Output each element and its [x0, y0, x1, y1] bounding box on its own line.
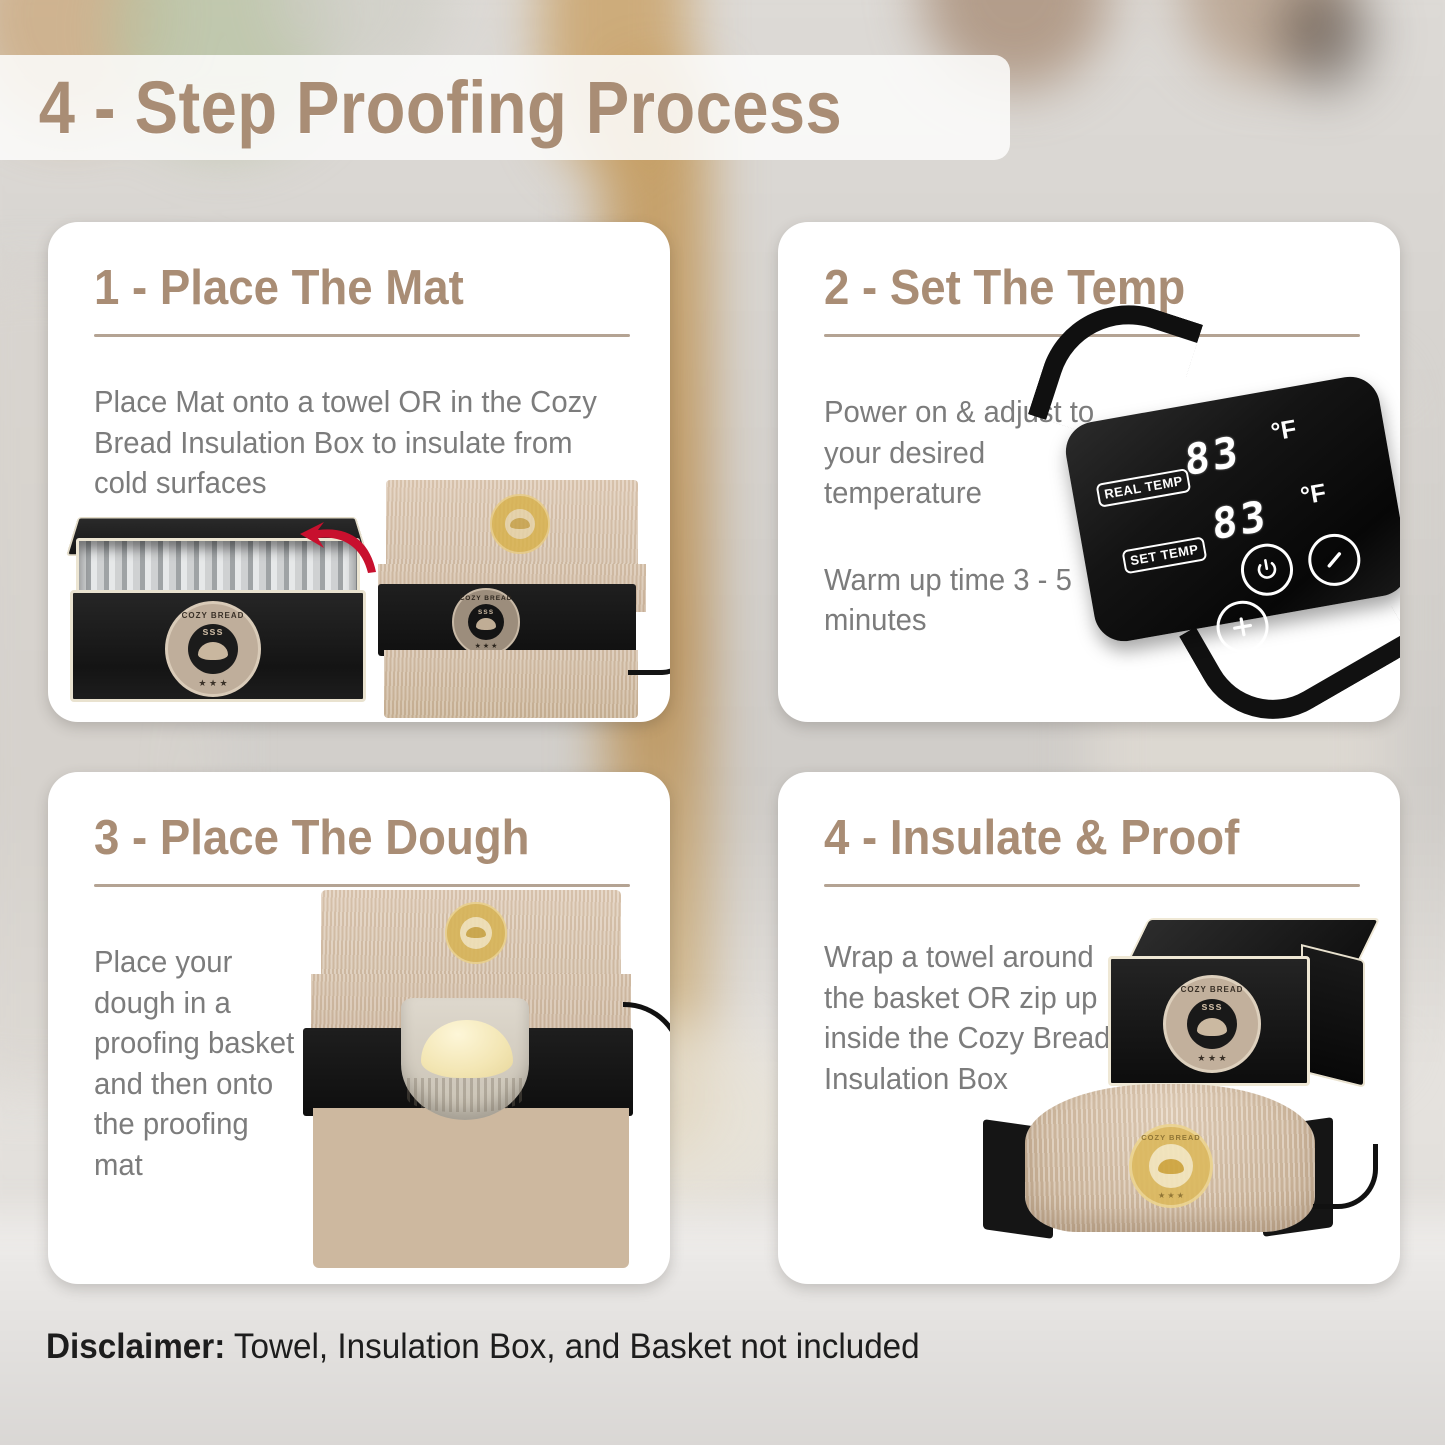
cozy-bread-badge: COZY BREAD sss ★ ★ ★ — [1163, 975, 1261, 1073]
minus-button[interactable] — [1304, 530, 1364, 590]
disclaimer-text: Towel, Insulation Box, and Basket not in… — [225, 1327, 919, 1366]
wrapping-towel: COZY BREAD ★ ★ ★ — [1025, 1084, 1315, 1232]
step-3-heading: 3 - Place The Dough — [94, 810, 630, 866]
real-temp-unit: °F — [1269, 415, 1299, 448]
minus-icon — [1319, 545, 1349, 575]
towel-wrapped-mat: COZY BREAD ★ ★ ★ — [983, 1084, 1343, 1244]
step-1-illustration: COZY BREAD sss ★ ★ ★ — [48, 472, 670, 722]
step-card-2: 2 - Set The Temp Power on & adjust to yo… — [778, 222, 1400, 722]
disclaimer: Disclaimer: Towel, Insulation Box, and B… — [46, 1327, 920, 1367]
page-title: 4 - Step Proofing Process — [0, 65, 842, 150]
step-1-divider — [94, 334, 630, 337]
set-temp-unit: °F — [1298, 479, 1328, 512]
step-card-4: 4 - Insulate & Proof Wrap a towel around… — [778, 772, 1400, 1284]
towel-bottom — [313, 1108, 629, 1268]
set-temp-label: SET TEMP — [1121, 536, 1207, 574]
mat-power-cord — [628, 600, 670, 675]
insulation-box-side-panel — [1301, 944, 1365, 1088]
step-3-body: Place your dough in a proofing basket an… — [94, 942, 296, 1185]
mat-power-cord — [623, 1002, 670, 1147]
cozy-bread-badge — [490, 494, 550, 554]
insulation-box-front-panel: COZY BREAD sss ★ ★ ★ — [1108, 956, 1310, 1086]
step-3-divider — [94, 884, 630, 887]
real-temp-display: 83 — [1181, 427, 1245, 485]
set-temp-display: 83 — [1208, 491, 1272, 549]
towel-folded-top — [321, 890, 621, 978]
insulation-box-front-panel: COZY BREAD sss ★ ★ ★ — [70, 590, 366, 702]
mat-power-cord — [1313, 1144, 1378, 1209]
cozy-bread-badge: COZY BREAD sss ★ ★ ★ — [165, 601, 261, 697]
power-button[interactable] — [1237, 540, 1297, 600]
plus-icon — [1227, 612, 1257, 642]
insulation-box-closed: COZY BREAD sss ★ ★ ★ — [1108, 918, 1360, 1088]
step-4-illustration: COZY BREAD sss ★ ★ ★ COZY BREAD ★ ★ ★ — [778, 772, 1400, 1284]
towel-with-mat: COZY BREAD sss ★ ★ ★ — [378, 472, 648, 722]
cozy-bread-badge: COZY BREAD sss ★ ★ ★ — [452, 588, 520, 656]
step-3-illustration — [303, 890, 663, 1280]
real-temp-label: REAL TEMP — [1096, 468, 1192, 507]
step-1-heading: 1 - Place The Mat — [94, 260, 630, 316]
towel-bottom — [384, 650, 638, 718]
step-2-illustration: REAL TEMP SET TEMP 83 °F 83 °F — [778, 222, 1400, 722]
towel-folded-top — [386, 480, 638, 568]
red-arrow-icon — [294, 516, 380, 576]
cozy-bread-badge — [445, 902, 507, 964]
power-icon — [1252, 555, 1282, 585]
step-card-1: 1 - Place The Mat Place Mat onto a towel… — [48, 222, 670, 722]
title-banner: 4 - Step Proofing Process — [0, 55, 1010, 160]
cozy-bread-badge: COZY BREAD ★ ★ ★ — [1129, 1124, 1213, 1208]
disclaimer-label: Disclaimer: — [46, 1327, 225, 1366]
proofing-mat: COZY BREAD sss ★ ★ ★ — [378, 584, 636, 656]
step-card-3: 3 - Place The Dough Place your dough in … — [48, 772, 670, 1284]
